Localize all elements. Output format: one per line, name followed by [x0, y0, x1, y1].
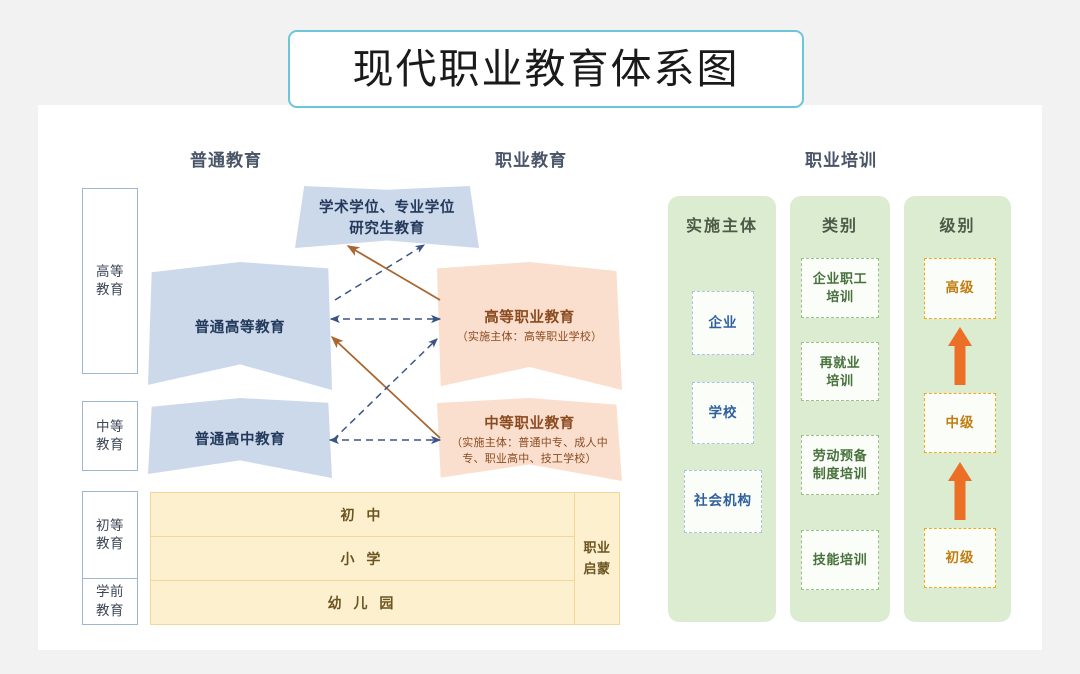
- block-title: 普通高等教育: [195, 316, 286, 337]
- column-header-general: 普通教育: [190, 146, 262, 171]
- stage-label-preschool: 学前 教育: [82, 578, 138, 625]
- stage-label-line1: 高等: [96, 264, 124, 279]
- up-arrow-icon: [947, 327, 973, 385]
- vocational-enlightenment-cell: 职业 启蒙: [575, 493, 619, 624]
- block-title: 中等职业教育: [484, 412, 575, 433]
- cat-line2: 培训: [826, 289, 853, 304]
- stage-label-line1: 中等: [96, 419, 124, 434]
- stage-label-line2: 教育: [96, 536, 124, 551]
- cat-line1: 劳动预备: [813, 448, 867, 463]
- cell-line1: 职业: [583, 540, 610, 555]
- table-row: 幼 儿 园: [151, 580, 574, 624]
- cat-line2: 培训: [826, 373, 853, 388]
- panel-title: 类别: [790, 212, 890, 236]
- block-title: 高等职业教育: [484, 306, 575, 327]
- stage-label-line2: 教育: [96, 437, 124, 452]
- basic-education-table: 初 中 小 学 幼 儿 园 职业 启蒙: [150, 492, 620, 625]
- training-category-labor-preparation[interactable]: 劳动预备 制度培训: [801, 435, 879, 495]
- stage-label-line1: 初等: [96, 518, 124, 533]
- training-subject-social-org[interactable]: 社会机构: [684, 470, 762, 533]
- block-subtitle: 研究生教育: [349, 217, 425, 238]
- panel-title: 级别: [904, 212, 1011, 236]
- table-row: 初 中: [151, 493, 574, 536]
- table-row: 小 学: [151, 536, 574, 580]
- cat-line1: 再就业: [820, 355, 861, 370]
- training-category-enterprise-staff[interactable]: 企业职工 培训: [801, 258, 879, 318]
- stage-label-line2: 教育: [96, 603, 124, 618]
- training-level-intermediate[interactable]: 中级: [924, 393, 996, 453]
- block-title: 学术学位、专业学位: [319, 196, 455, 217]
- block-subtitle: （实施主体：普通中专、成人中专、职业高中、技工学校）: [441, 436, 619, 468]
- stage-label-higher: 高等 教育: [82, 188, 138, 374]
- stage-label-line1: 学前: [96, 584, 124, 599]
- column-header-vocational: 职业教育: [495, 146, 567, 171]
- up-arrow-icon: [947, 462, 973, 520]
- block-graduate-education: 学术学位、专业学位 研究生教育: [295, 186, 479, 248]
- basic-education-rows: 初 中 小 学 幼 儿 园: [151, 493, 575, 624]
- training-subject-enterprise[interactable]: 企业: [692, 291, 754, 355]
- training-level-advanced[interactable]: 高级: [924, 258, 996, 319]
- cat-line1: 企业职工: [813, 271, 867, 286]
- block-title: 普通高中教育: [195, 428, 286, 449]
- stage-label-secondary: 中等 教育: [82, 401, 138, 471]
- training-subject-school[interactable]: 学校: [692, 382, 754, 444]
- training-category-reemployment[interactable]: 再就业 培训: [801, 342, 879, 401]
- page-title: 现代职业教育体系图: [353, 49, 740, 90]
- diagram-stage: 现代职业教育体系图 普通教育 职业教育 职业培训 高等 教育 中等 教育 初等 …: [0, 0, 1080, 674]
- diagram-title-box: 现代职业教育体系图: [288, 30, 804, 108]
- block-subtitle: （实施主体：高等职业学校）: [457, 330, 603, 346]
- training-category-skills[interactable]: 技能培训: [801, 530, 879, 590]
- cat-line2: 制度培训: [813, 466, 867, 481]
- column-header-training: 职业培训: [805, 146, 877, 171]
- stage-label-line2: 教育: [96, 282, 124, 297]
- stage-label-primary: 初等 教育: [82, 491, 138, 579]
- training-level-primary[interactable]: 初级: [924, 528, 996, 588]
- panel-title: 实施主体: [668, 212, 776, 236]
- cell-line2: 启蒙: [583, 561, 610, 576]
